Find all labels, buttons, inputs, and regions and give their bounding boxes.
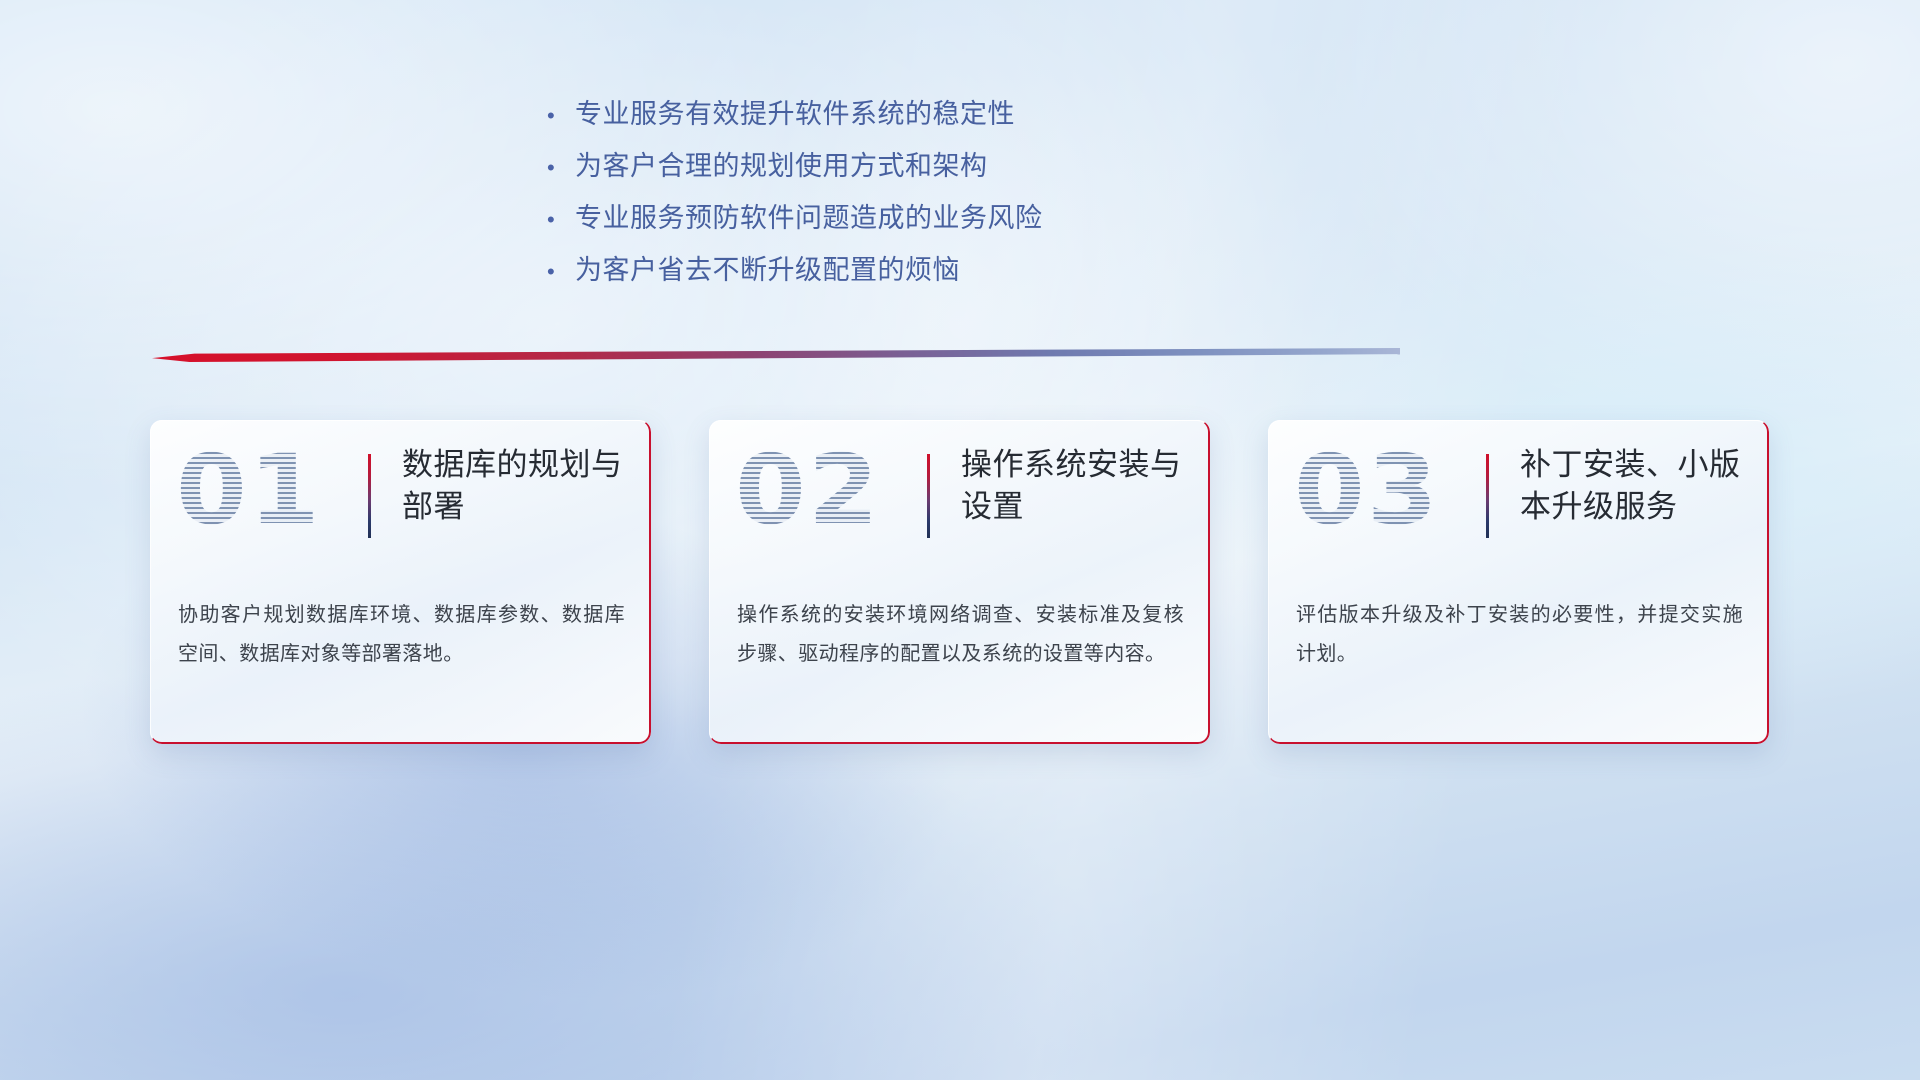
service-card-row: 01 01 数据库的规划与部署 协助客户规划数据库环境、数据库参数、数据库空间、… <box>150 420 1770 744</box>
section-divider <box>152 348 1400 362</box>
card-header: 01 01 数据库的规划与部署 <box>150 420 651 580</box>
card-title: 补丁安装、小版本升级服务 <box>1520 444 1756 527</box>
card-number: 02 <box>735 442 881 538</box>
card-title-accent-bar <box>1486 454 1489 538</box>
service-card-02[interactable]: 02 02 操作系统安装与设置 操作系统的安装环境网络调查、安装标准及复核步骤、… <box>709 420 1210 744</box>
card-number: 01 <box>176 442 322 538</box>
card-title: 数据库的规划与部署 <box>402 444 638 527</box>
bullet-text: 专业服务预防软件问题造成的业务风险 <box>575 196 1043 235</box>
list-item: • 专业服务有效提升软件系统的稳定性 <box>545 92 1365 144</box>
bullet-text: 为客户合理的规划使用方式和架构 <box>575 144 988 183</box>
list-item: • 为客户省去不断升级配置的烦恼 <box>545 248 1365 300</box>
card-title-accent-bar <box>368 454 371 538</box>
bullet-dot-icon: • <box>545 261 575 283</box>
card-title-accent-bar <box>927 454 930 538</box>
bullet-text: 为客户省去不断升级配置的烦恼 <box>575 248 960 287</box>
card-header: 03 03 补丁安装、小版本升级服务 <box>1268 420 1769 580</box>
list-item: • 为客户合理的规划使用方式和架构 <box>545 144 1365 196</box>
service-card-03[interactable]: 03 03 补丁安装、小版本升级服务 评估版本升级及补丁安装的必要性，并提交实施… <box>1268 420 1769 744</box>
bullet-text: 专业服务有效提升软件系统的稳定性 <box>575 92 1015 131</box>
service-card-01[interactable]: 01 01 数据库的规划与部署 协助客户规划数据库环境、数据库参数、数据库空间、… <box>150 420 651 744</box>
bullet-dot-icon: • <box>545 105 575 127</box>
benefits-bullet-list: • 专业服务有效提升软件系统的稳定性 • 为客户合理的规划使用方式和架构 • 专… <box>545 92 1365 300</box>
card-body-text: 操作系统的安装环境网络调查、安装标准及复核步骤、驱动程序的配置以及系统的设置等内… <box>737 596 1184 674</box>
divider-blade <box>152 348 1400 362</box>
card-title: 操作系统安装与设置 <box>961 444 1197 527</box>
card-body-text: 评估版本升级及补丁安装的必要性，并提交实施计划。 <box>1296 596 1743 674</box>
bullet-dot-icon: • <box>545 209 575 231</box>
bullet-dot-icon: • <box>545 157 575 179</box>
list-item: • 专业服务预防软件问题造成的业务风险 <box>545 196 1365 248</box>
card-number: 03 <box>1294 442 1440 538</box>
card-body-text: 协助客户规划数据库环境、数据库参数、数据库空间、数据库对象等部署落地。 <box>178 596 625 674</box>
card-header: 02 02 操作系统安装与设置 <box>709 420 1210 580</box>
